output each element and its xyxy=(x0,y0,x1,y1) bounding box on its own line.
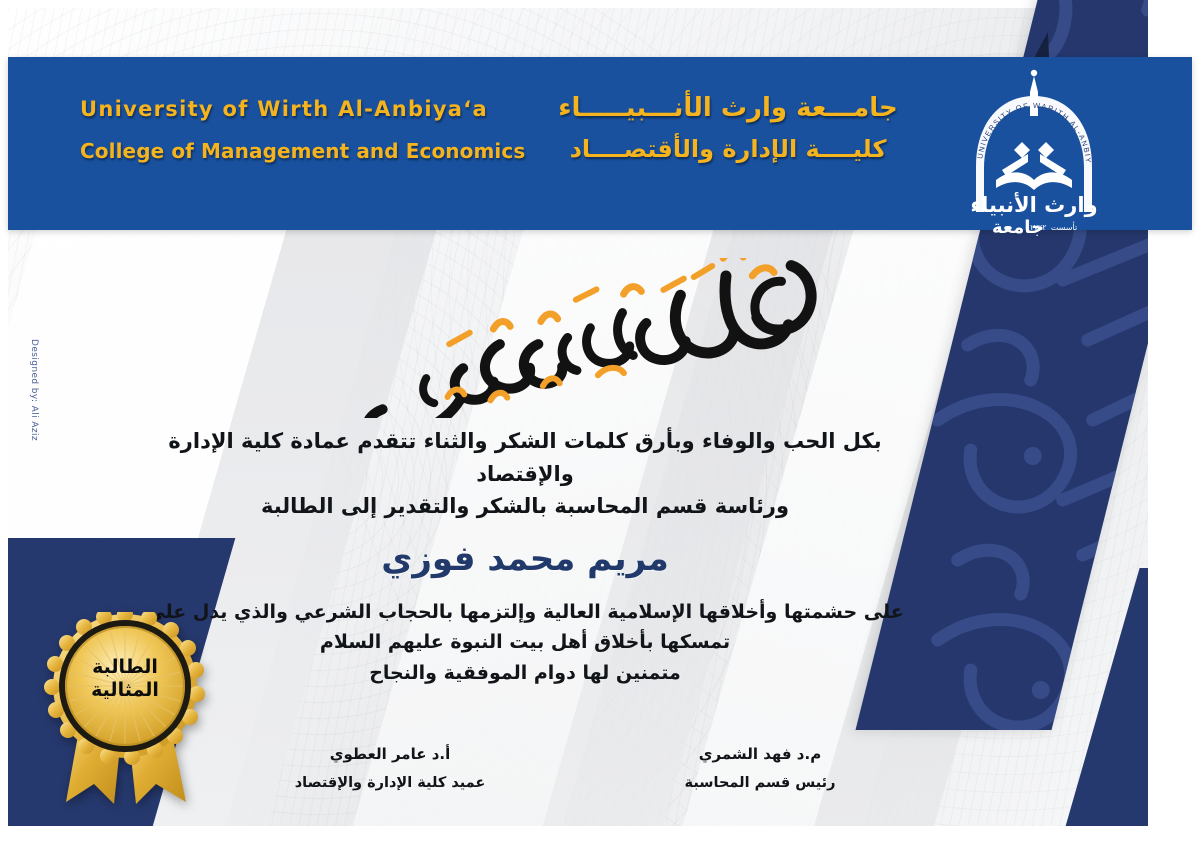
college-name-en: College of Management and Economics xyxy=(80,139,525,163)
header-arabic-block: جامـــعة وارث الأنـــبيـــــاء كليــــة … xyxy=(528,93,928,163)
signature-head-name: م.د فهد الشمري xyxy=(620,745,900,763)
body-line-5: متمنين لها دوام الموفقية والنجاح xyxy=(120,658,930,689)
signature-head-role: رئيس قسم المحاسبة xyxy=(620,775,900,791)
header-english-block: University of Wirth Al-Anbiya‘a College … xyxy=(80,97,525,163)
svg-text:تأسست: تأسست xyxy=(1051,221,1077,232)
signature-dean-name: أ.د عامر العطوي xyxy=(250,745,530,763)
body-line-2: ورئاسة قسم المحاسبة بالشكر والتقدير إلى … xyxy=(120,490,930,523)
college-name-ar: كليــــة الإدارة والأقتصــــاد xyxy=(528,135,928,163)
svg-text:٢٪١٧: ٢٪١٧ xyxy=(1029,223,1046,232)
signature-head-of-dept: م.د فهد الشمري رئيس قسم المحاسبة xyxy=(620,745,900,791)
certificate-title-calligraphy xyxy=(330,258,850,418)
gold-rosette-icon xyxy=(36,612,214,808)
emblem-icon: UNIVERSITY OF WARITH AL-ANBIYA'A وارث ال… xyxy=(958,62,1110,240)
ideal-student-seal: الطالبة المثالية xyxy=(36,612,214,808)
certificate-body: بكل الحب والوفاء وبأرق كلمات الشكر والثن… xyxy=(120,425,930,689)
svg-text:وارث الأنبياء: وارث الأنبياء xyxy=(970,191,1097,217)
signature-dean: أ.د عامر العطوي عميد كلية الإدارة والإقت… xyxy=(250,745,530,791)
student-name: مريم محمد فوزي xyxy=(120,539,930,579)
title-calligraphy-icon xyxy=(330,258,850,418)
university-name-en: University of Wirth Al-Anbiya‘a xyxy=(80,97,525,121)
signature-dean-role: عميد كلية الإدارة والإقتصاد xyxy=(250,775,530,791)
certificate-page: University of Wirth Al-Anbiya‘a College … xyxy=(0,0,1200,848)
body-line-3: على حشمتها وأخلاقها الإسلامية العالية وإ… xyxy=(120,597,930,628)
designer-credit: Designed by: Ali Aziz xyxy=(29,320,39,460)
body-line-1: بكل الحب والوفاء وبأرق كلمات الشكر والثن… xyxy=(120,425,930,490)
university-name-ar: جامـــعة وارث الأنـــبيـــــاء xyxy=(528,93,928,123)
university-logo: UNIVERSITY OF WARITH AL-ANBIYA'A وارث ال… xyxy=(958,62,1110,240)
body-line-4: تمسكها بأخلاق أهل بيت النبوة عليهم السلا… xyxy=(120,627,930,658)
